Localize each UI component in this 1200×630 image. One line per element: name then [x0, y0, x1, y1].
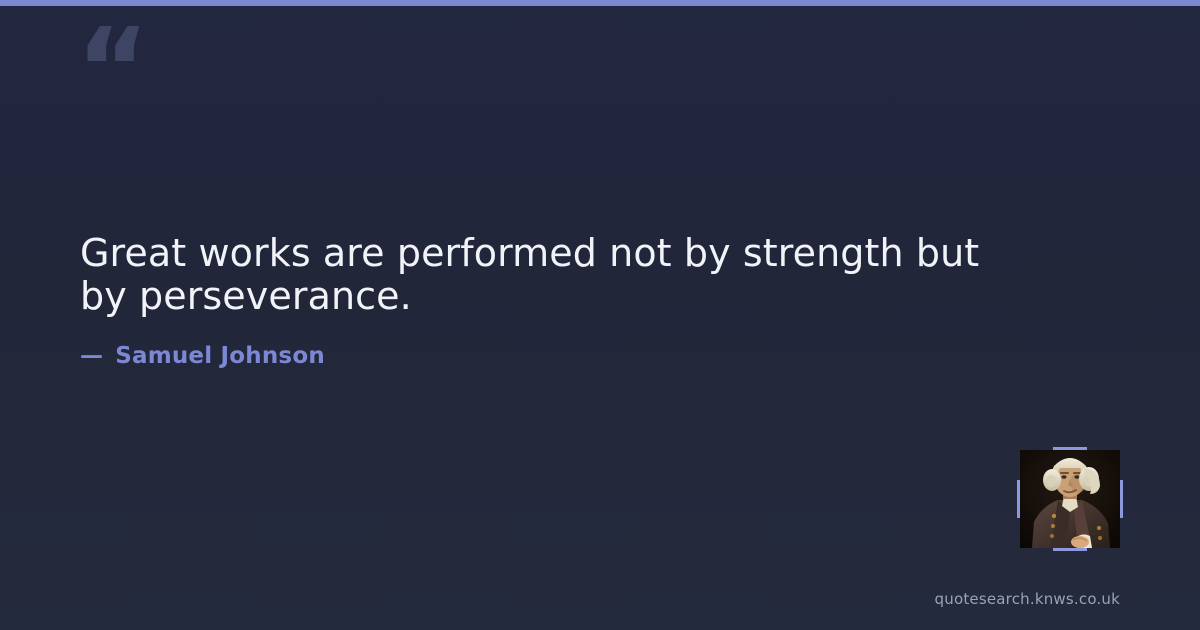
author-name: Samuel Johnson — [115, 343, 325, 369]
frame-accent-right — [1120, 480, 1123, 518]
site-watermark: quotesearch.knws.co.uk — [935, 590, 1120, 608]
top-accent-bar — [0, 0, 1200, 6]
attribution-dash: — — [80, 343, 103, 369]
quote-text: Great works are performed not by strengt… — [80, 232, 980, 317]
quote-card: “ Great works are performed not by stren… — [0, 0, 1200, 630]
frame-accent-bottom — [1053, 548, 1087, 551]
quote-attribution: — Samuel Johnson — [80, 343, 325, 369]
author-portrait-frame — [1020, 450, 1120, 548]
author-portrait-image — [1020, 450, 1120, 548]
quote-body: Great works are performed not by strengt… — [80, 232, 980, 317]
open-quote-icon: “ — [76, 14, 148, 126]
